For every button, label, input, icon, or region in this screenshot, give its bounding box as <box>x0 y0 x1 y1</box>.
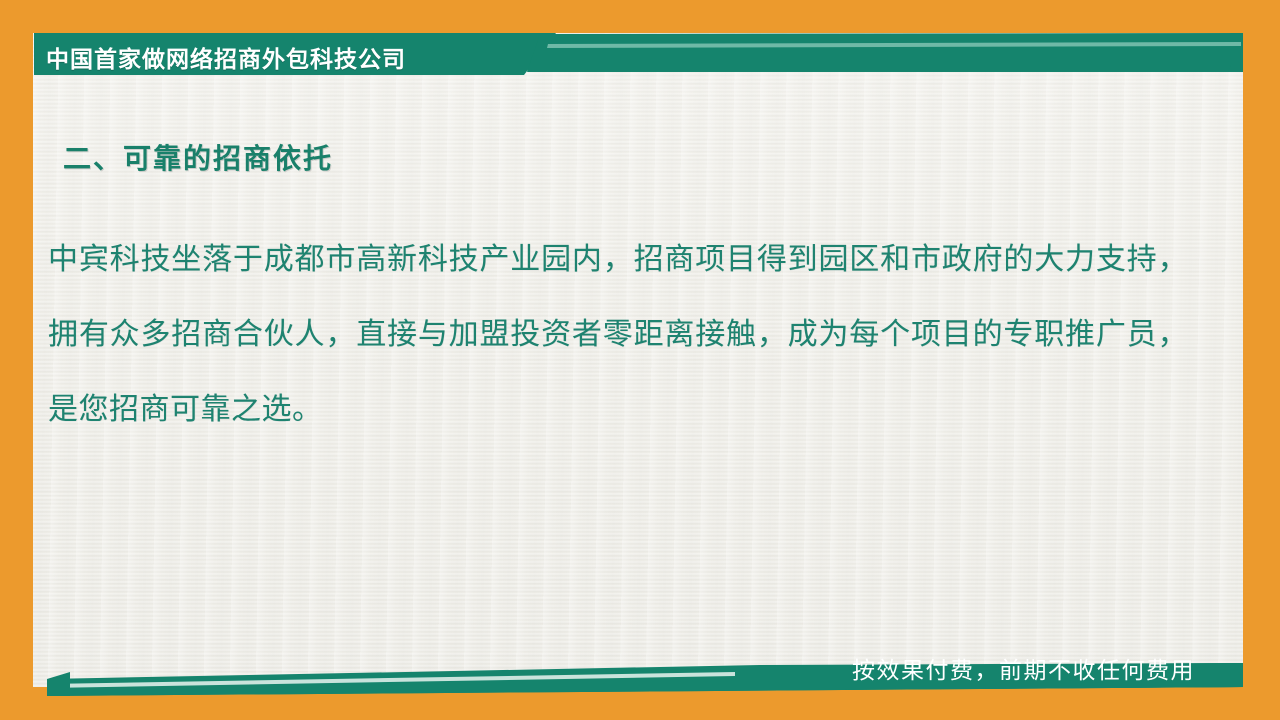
slide-canvas: 二、可靠的招商依托 中宾科技坐落于成都市高新科技产业园内，招商项目得到园区和市政… <box>0 0 1280 720</box>
slide-body: 二、可靠的招商依托 中宾科技坐落于成都市高新科技产业园内，招商项目得到园区和市政… <box>33 74 1243 649</box>
footer-slogan: 按效果付费，前期不收任何费用 <box>852 651 1195 685</box>
body-paragraph-text: 中宾科技坐落于成都市高新科技产业园内，招商项目得到园区和市政府的大力支持，拥有众… <box>48 222 1188 447</box>
page-title: 二、可靠的招商依托 <box>63 137 333 177</box>
body-paragraph: 中宾科技坐落于成都市高新科技产业园内，招商项目得到园区和市政府的大力支持，拥有众… <box>48 222 1188 447</box>
header-tagline: 中国首家做网络招商外包科技公司 <box>46 40 406 74</box>
